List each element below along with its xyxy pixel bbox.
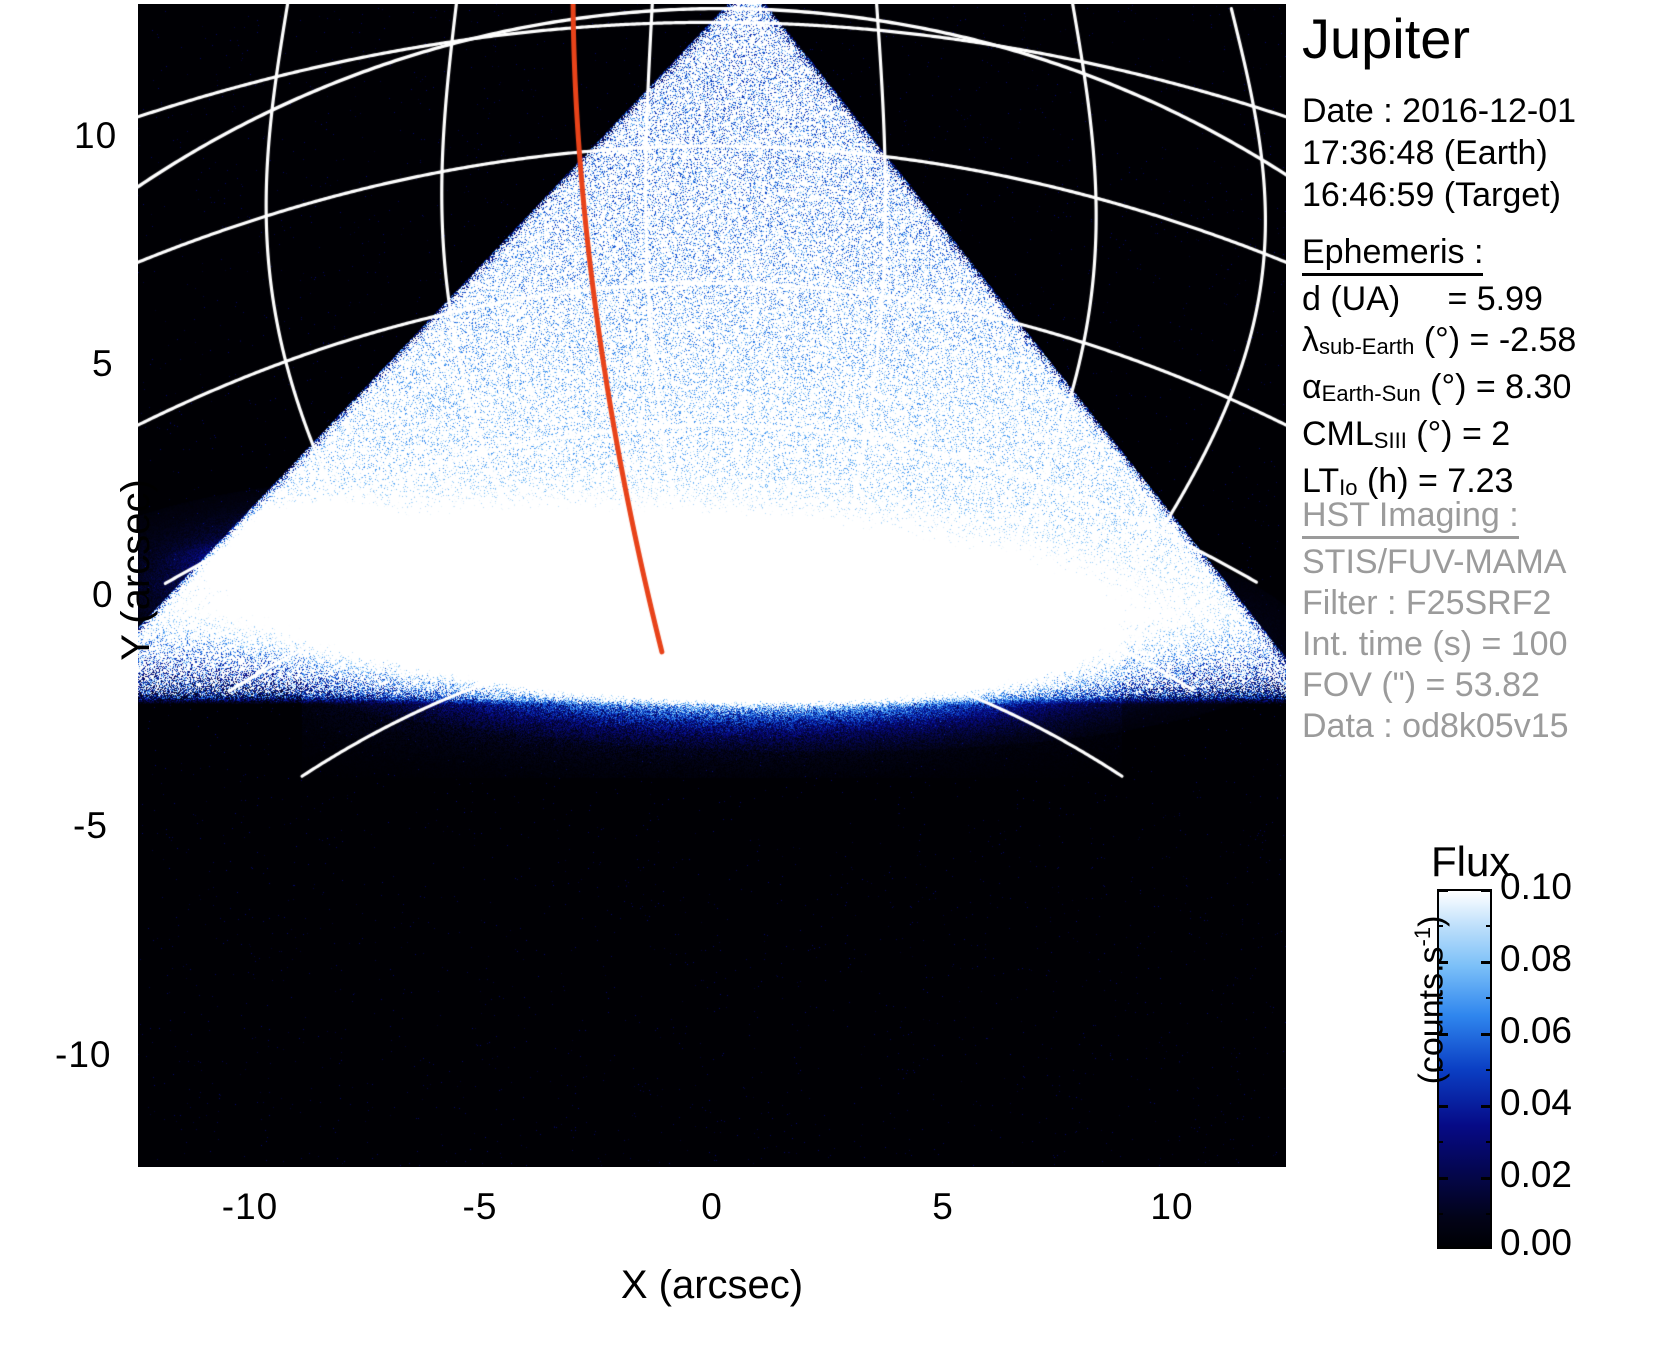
- x-tick-label: -10: [200, 1186, 300, 1228]
- colorbar-minor-tick: [1486, 997, 1492, 999]
- aurora-image-plot: [138, 4, 1286, 1167]
- colorbar-minor-tick: [1486, 1069, 1492, 1071]
- ephemeris-block: Ephemeris : d (UA) = 5.99 λsub-Earth (°)…: [1302, 232, 1576, 508]
- colorbar-minor-tick: [1437, 1141, 1443, 1143]
- colorbar-tick: [1481, 889, 1492, 892]
- ephemeris-row-distance: d (UA) = 5.99: [1302, 279, 1576, 320]
- integration-time-line: Int. time (s) = 100: [1302, 624, 1569, 665]
- date-earth-line: Date : 2016-12-01: [1302, 90, 1576, 132]
- ephemeris-heading: Ephemeris :: [1302, 232, 1483, 276]
- fov-line: FOV (") = 53.82: [1302, 665, 1569, 706]
- hst-imaging-block: HST Imaging : STIS/FUV-MAMA Filter : F25…: [1302, 495, 1569, 747]
- colorbar-tick: [1481, 961, 1492, 964]
- colorbar-tick-label: 0.10: [1500, 866, 1572, 908]
- colorbar-tick: [1481, 1246, 1492, 1249]
- ephemeris-row-phase-angle: αEarth-Sun (°) = 8.30: [1302, 367, 1576, 414]
- colorbar-tick-label: 0.08: [1500, 938, 1572, 980]
- data-id-line: Data : od8k05v15: [1302, 706, 1569, 747]
- x-tick-label: 10: [1122, 1186, 1222, 1228]
- colorbar-tick: [1437, 1177, 1448, 1180]
- ephemeris-row-cml: CMLSIII (°) = 2: [1302, 414, 1576, 461]
- colorbar-minor-tick: [1486, 1141, 1492, 1143]
- x-tick-label: -5: [430, 1186, 530, 1228]
- filter-line: Filter : F25SRF2: [1302, 583, 1569, 624]
- ephemeris-row-sub-earth-lat: λsub-Earth (°) = -2.58: [1302, 320, 1576, 367]
- x-tick-label: 5: [893, 1186, 993, 1228]
- colorbar-tick-label: 0.02: [1500, 1154, 1572, 1196]
- colorbar-tick-label: 0.06: [1500, 1010, 1572, 1052]
- colorbar-minor-tick: [1486, 925, 1492, 927]
- colorbar-tick: [1481, 1105, 1492, 1108]
- y-tick-label: -10: [55, 1034, 111, 1076]
- x-axis-label: X (arcsec): [138, 1263, 1286, 1308]
- colorbar-tick: [1481, 1033, 1492, 1036]
- x-tick-label: 0: [662, 1186, 762, 1228]
- colorbar-minor-tick: [1437, 1213, 1443, 1215]
- colorbar-tick-label: 0.04: [1500, 1082, 1572, 1124]
- time-earth-line: 17:36:48 (Earth): [1302, 132, 1576, 174]
- colorbar-minor-tick: [1486, 1213, 1492, 1215]
- y-tick-label: -5: [73, 805, 108, 847]
- instrument-line: STIS/FUV-MAMA: [1302, 542, 1569, 583]
- time-target-line: 16:46:59 (Target): [1302, 174, 1576, 216]
- observation-date-block: Date : 2016-12-01 17:36:48 (Earth) 16:46…: [1302, 90, 1576, 216]
- colorbar-tick: [1437, 1246, 1448, 1249]
- hst-imaging-heading: HST Imaging :: [1302, 495, 1519, 539]
- colorbar-tick: [1481, 1177, 1492, 1180]
- jupiter-aurora-image: [138, 4, 1286, 1167]
- y-tick-label: 0: [92, 574, 114, 616]
- y-axis-label: Y (arcsec): [114, 420, 159, 720]
- y-tick-label: 5: [92, 343, 114, 385]
- y-tick-label: 10: [74, 115, 117, 157]
- target-name-title: Jupiter: [1302, 10, 1470, 68]
- colorbar-tick-label: 0.00: [1500, 1222, 1572, 1264]
- colorbar-axis-label: (counts.s-1): [1410, 870, 1451, 1130]
